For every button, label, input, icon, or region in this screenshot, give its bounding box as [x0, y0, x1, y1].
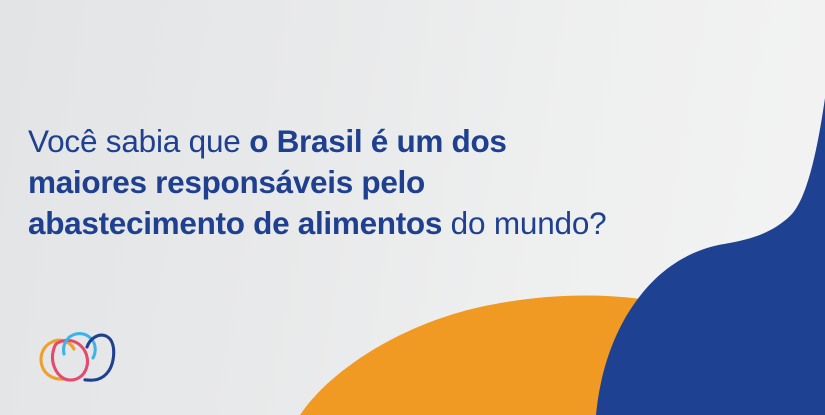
headline-line-2: maiores responsáveis pelo — [28, 162, 748, 203]
logo-pink-loop-icon — [52, 340, 87, 380]
brand-logo — [38, 331, 116, 385]
headline-line-2-bold: maiores responsáveis pelo — [28, 164, 425, 200]
banner-root: Você sabia que o Brasil é um dos maiores… — [0, 0, 825, 415]
logo-darkblue-loop-icon — [85, 335, 114, 380]
headline-line-1: Você sabia que o Brasil é um dos — [28, 121, 748, 162]
headline-line-3-regular: do mundo? — [442, 205, 606, 241]
headline-line-1-regular: Você sabia que — [28, 123, 249, 159]
headline-line-3: abastecimento de alimentos do mundo? — [28, 203, 748, 244]
headline-line-3-bold: abastecimento de alimentos — [28, 205, 442, 241]
headline-line-1-bold: o Brasil é um dos — [249, 123, 506, 159]
page-title: Você sabia que o Brasil é um dos maiores… — [28, 121, 748, 244]
